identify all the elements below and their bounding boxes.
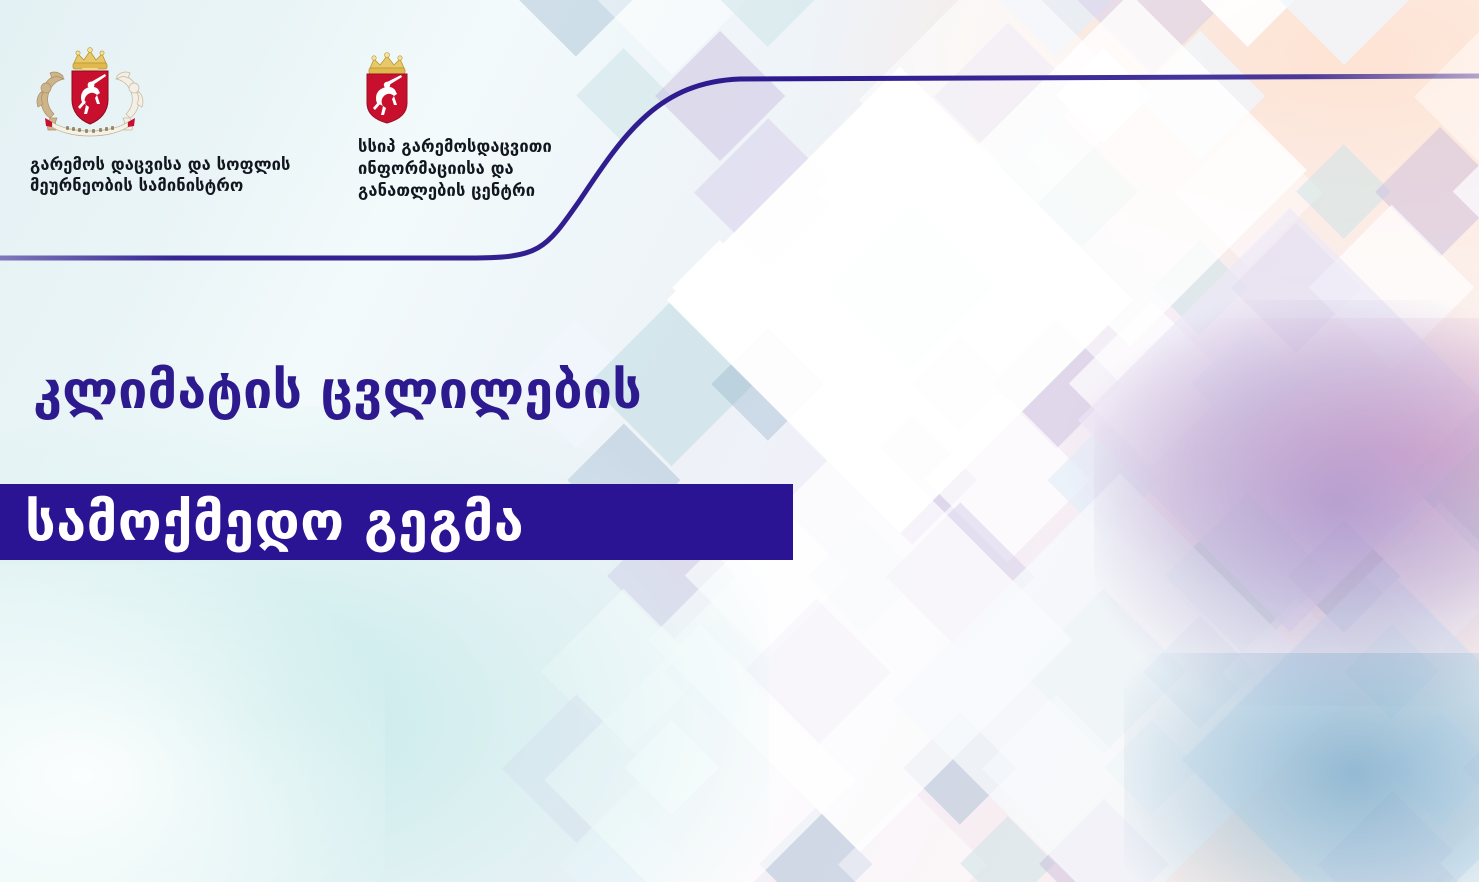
ministry-name-line-1: გარემოს დაცვისა და სოფლის: [30, 154, 298, 175]
action-plan-banner: სამოქმედო გეგმა: [0, 484, 793, 560]
ministry-name-line-2: მეურნეობის სამინისტრო: [30, 175, 298, 196]
crown: [369, 53, 405, 75]
center-name: სსიპ გარემოსდაცვითი ინფორმაციისა და განა…: [358, 136, 604, 201]
ministry-name: გარემოს დაცვისა და სოფლის მეურნეობის სამ…: [30, 154, 298, 197]
georgia-coat-of-arms-icon: [30, 44, 298, 144]
cover-title: კლიმატის ცვლილების 2024-2025 წლების: [33, 290, 642, 628]
cover-title-line-1: კლიმატის ცვლილების: [33, 358, 642, 426]
center-name-line-3: განათლების ცენტრი: [358, 180, 604, 202]
center-name-line-1: სსიპ გარემოსდაცვითი: [358, 136, 604, 158]
center-logo-block: სსიპ გარემოსდაცვითი ინფორმაციისა და განა…: [358, 48, 604, 201]
action-plan-banner-text: სამოქმედო გეგმა: [0, 495, 524, 549]
georgia-shield-crest-icon: [358, 48, 604, 128]
center-name-line-2: ინფორმაციისა და: [358, 158, 604, 180]
ministry-logo-block: გარემოს დაცვისა და სოფლის მეურნეობის სამ…: [30, 44, 298, 197]
report-cover: გარემოს დაცვისა და სოფლის მეურნეობის სამ…: [0, 0, 1479, 882]
crown: [73, 48, 107, 71]
